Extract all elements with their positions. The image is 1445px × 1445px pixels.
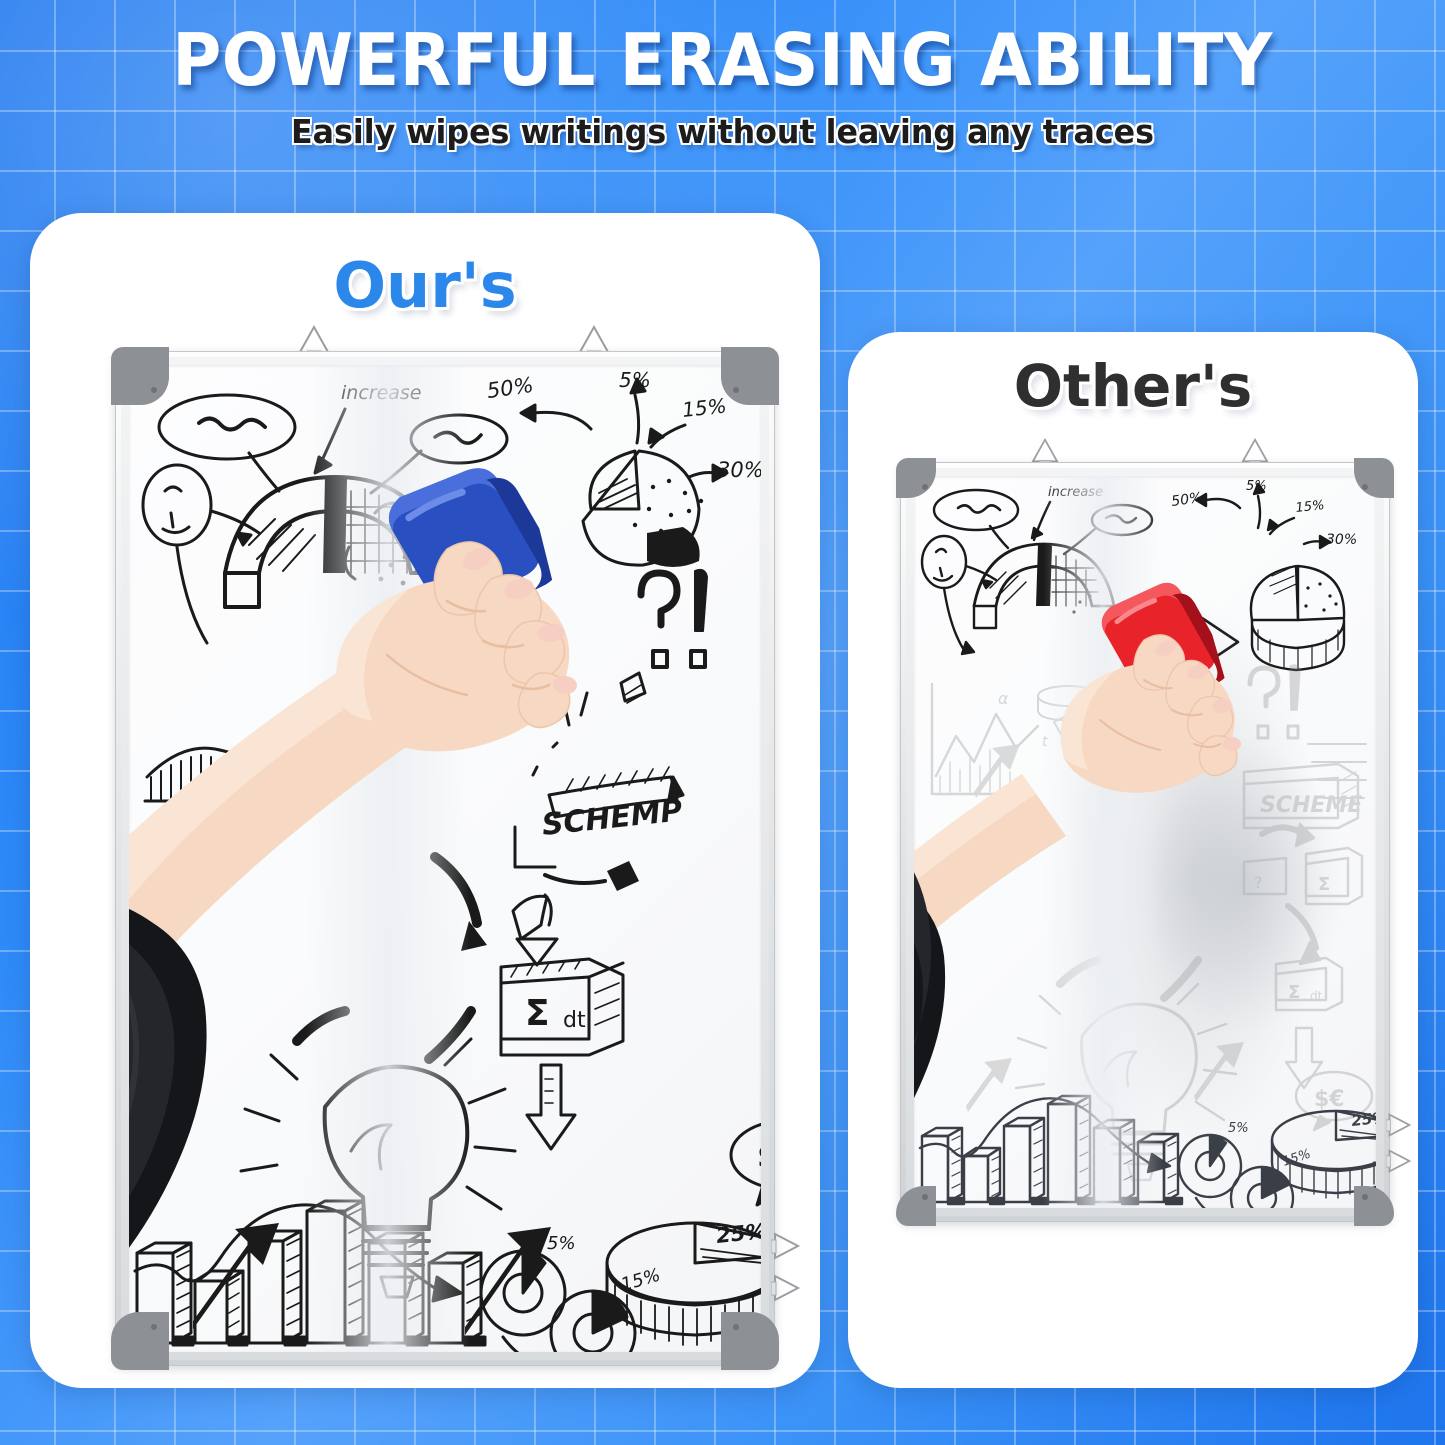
page-title: POWERFUL ERASING ABILITY xyxy=(51,22,1395,98)
side-hanger-triangle-icon xyxy=(1386,1112,1412,1138)
hand xyxy=(1054,608,1254,828)
black-sleeve xyxy=(129,895,289,1352)
comparison-card-ours: Our's xyxy=(30,213,820,1388)
svg-text:5%: 5% xyxy=(547,1233,576,1254)
card-label-ours: Our's xyxy=(30,249,820,322)
corner-bracket xyxy=(111,1312,169,1370)
doodle-currency-bubble: $€ xyxy=(731,1121,761,1205)
side-hanger-triangle-icon xyxy=(1386,1148,1412,1174)
svg-text:25%: 25% xyxy=(715,1219,761,1248)
corner-bracket xyxy=(721,347,779,405)
hand xyxy=(327,505,597,795)
header: POWERFUL ERASING ABILITY Easily wipes wr… xyxy=(0,0,1445,151)
hanger-triangle-icon xyxy=(1030,438,1060,464)
corner-bracket xyxy=(721,1312,779,1370)
card-label-others: Other's xyxy=(848,352,1418,420)
side-hanger-triangle-icon xyxy=(771,1231,801,1261)
whiteboard-surface-others: increase xyxy=(914,476,1376,1208)
corner-bracket xyxy=(111,347,169,405)
comparison-card-others: Other's xyxy=(848,332,1418,1388)
page-subtitle: Easily wipes writings without leaving an… xyxy=(29,112,1416,151)
side-hanger-triangle-icon xyxy=(771,1273,801,1303)
svg-text:5%: 5% xyxy=(1228,1121,1249,1136)
black-sleeve xyxy=(914,866,1014,1208)
hanger-triangle-icon xyxy=(1240,438,1270,464)
whiteboard-others: increase xyxy=(900,462,1390,1222)
svg-text:$€: $€ xyxy=(757,1137,761,1175)
whiteboard-surface-ours: increase xyxy=(129,365,761,1352)
doodle-donut-5: 5% xyxy=(481,1233,576,1335)
whiteboard-ours: increase xyxy=(115,351,775,1366)
svg-text:25%: 25% xyxy=(1351,1108,1376,1130)
